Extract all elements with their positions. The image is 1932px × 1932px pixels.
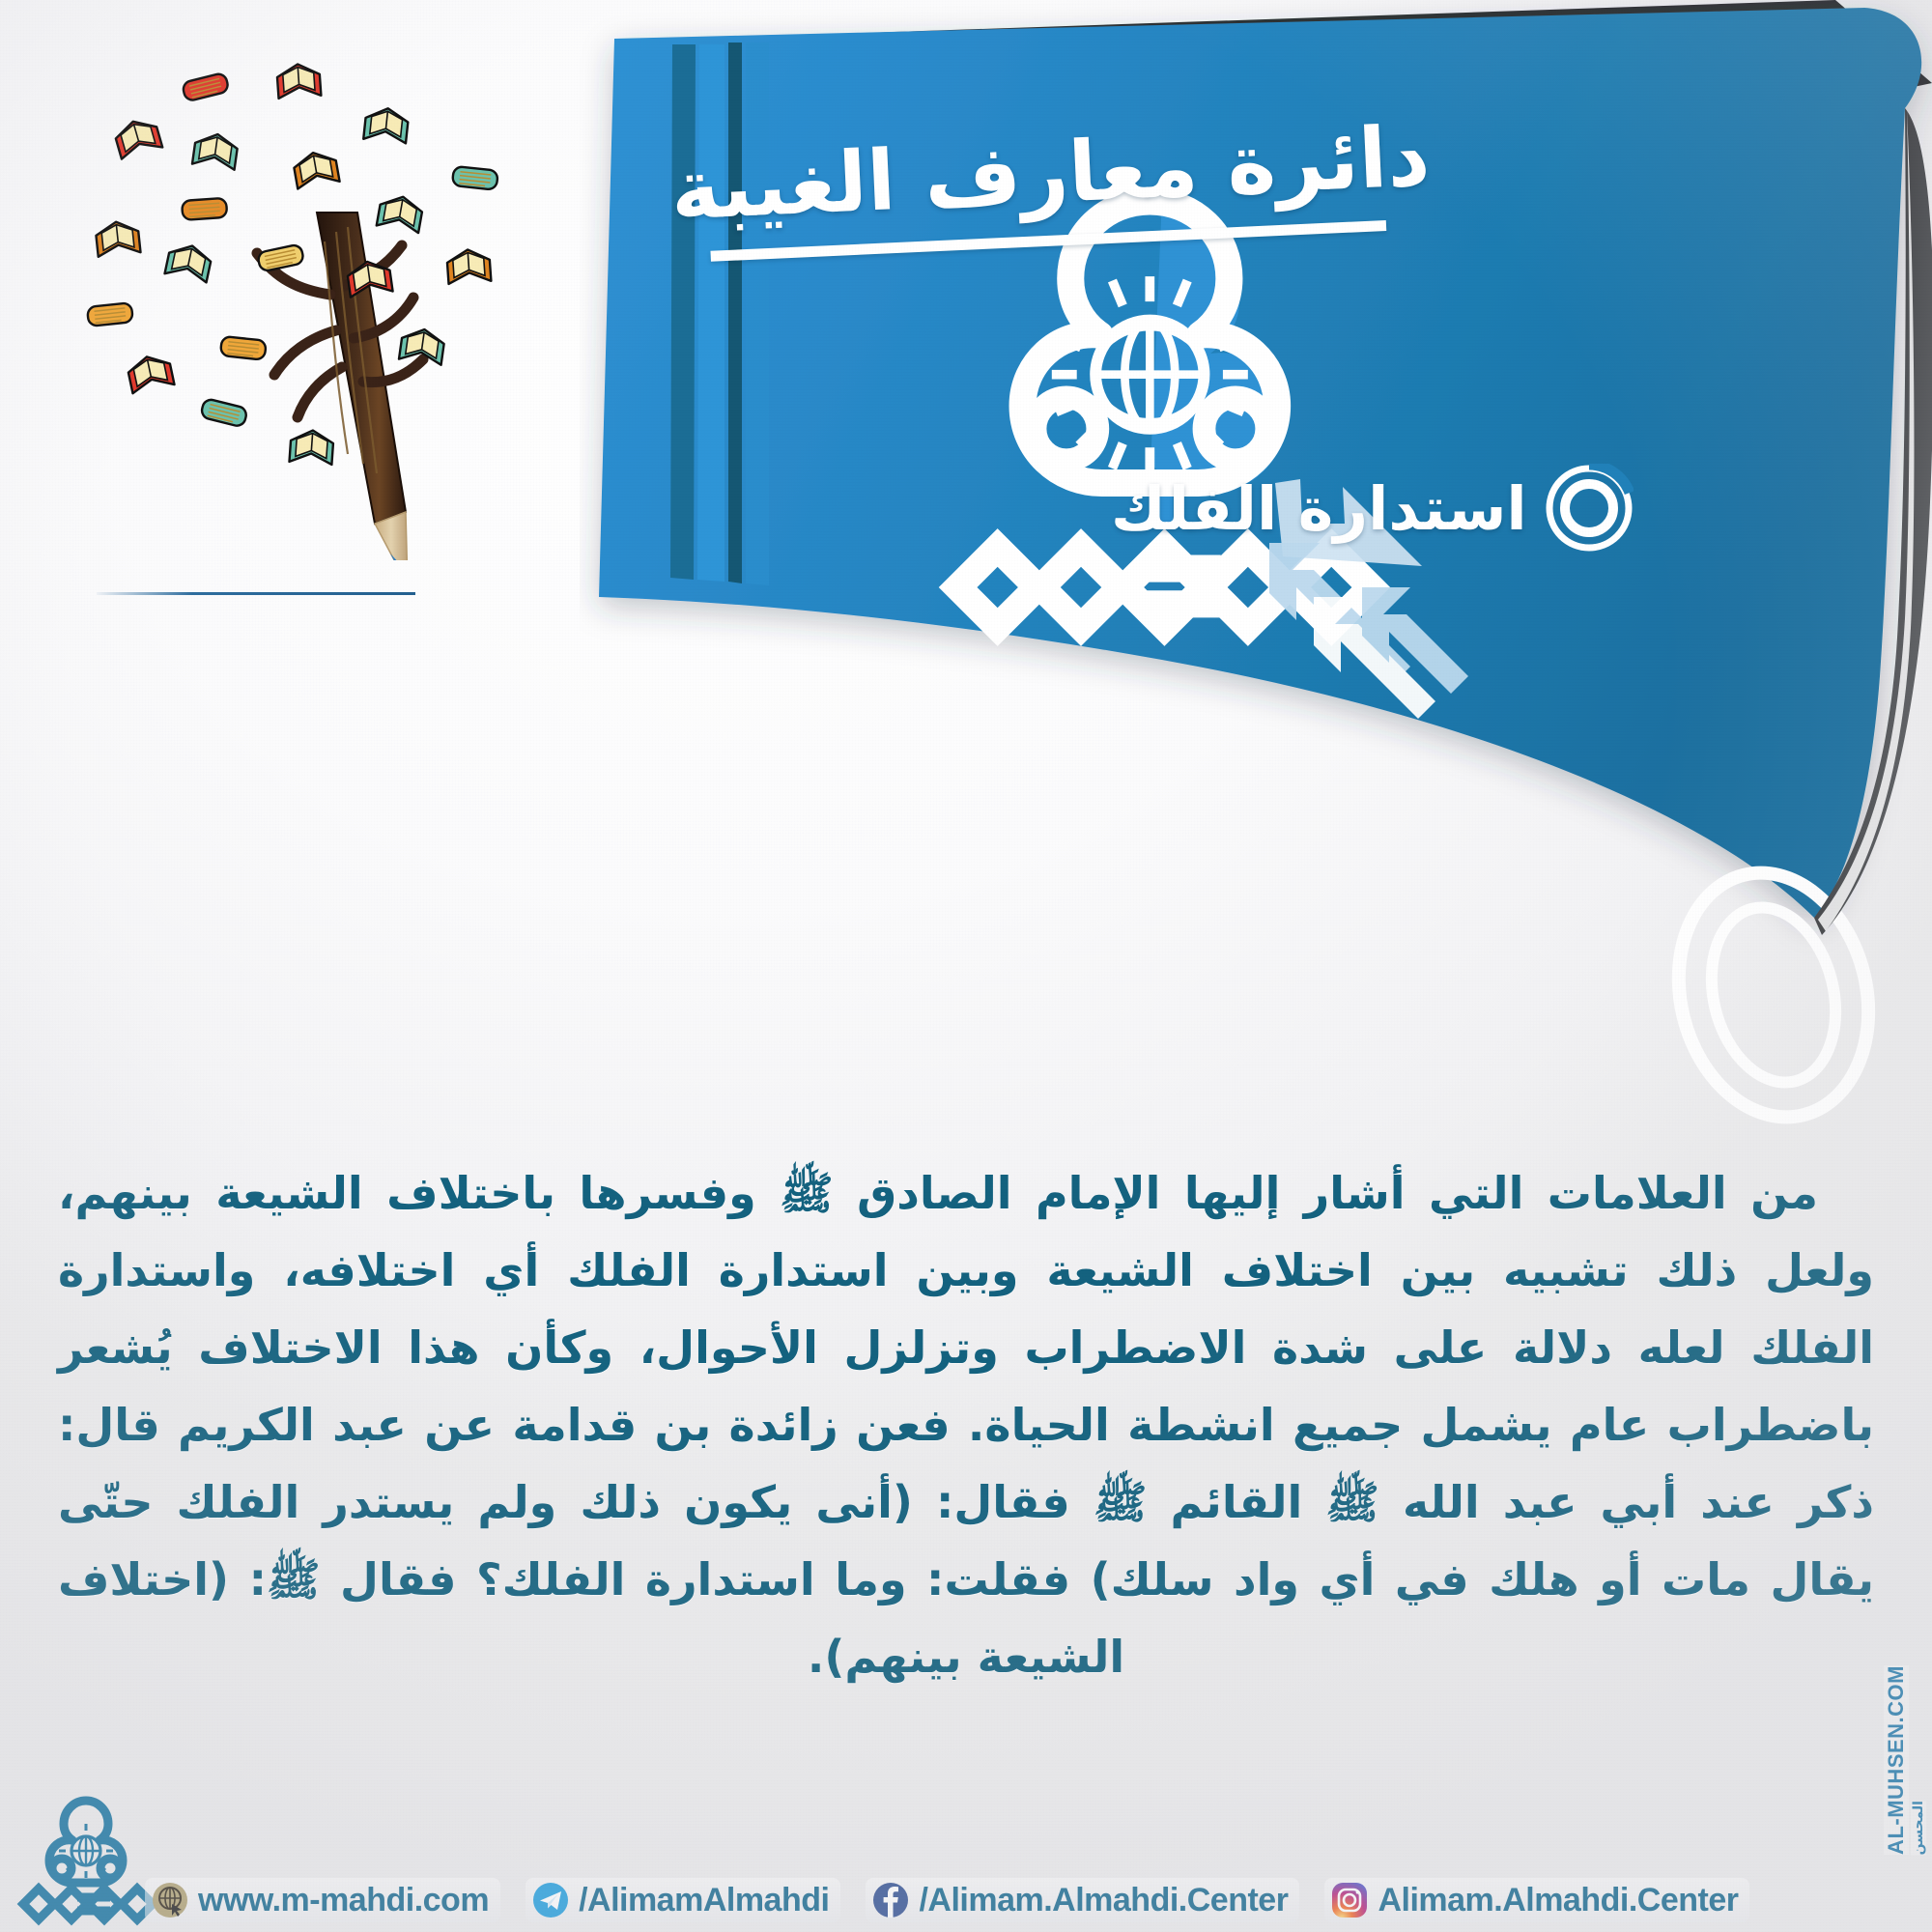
social-label: /Alimam.Almahdi.Center: [919, 1882, 1288, 1919]
book-tree-illustration: [68, 48, 531, 560]
pencil-draw-line: [97, 592, 415, 595]
social-link-telegram[interactable]: /AlimamAlmahdi: [526, 1878, 840, 1922]
almahdi-center-emblem-icon: [14, 1793, 158, 1928]
subtitle-text: استدارة الفلك: [1111, 473, 1527, 544]
facebook-icon: [871, 1881, 910, 1919]
telegram-icon: [531, 1881, 570, 1919]
social-link-facebook[interactable]: /Alimam.Almahdi.Center: [866, 1878, 1299, 1922]
subtitle-row: استدارة الفلك: [1111, 464, 1634, 553]
social-label: /AlimamAlmahdi: [579, 1882, 829, 1919]
social-links-list: www.m-mahdi.com /AlimamAlmahdi /Alimam.A…: [145, 1878, 1749, 1922]
article-body: من العلامات التي أشار إليها الإمام الصاد…: [58, 1154, 1874, 1695]
target-circle-icon: [1545, 464, 1634, 553]
watermark-site: AL-MUHSEN.COM: [1884, 1665, 1909, 1855]
body-line: من العلامات التي أشار إليها الإمام الصاد…: [215, 1167, 1818, 1219]
globe-icon: [151, 1881, 189, 1919]
social-link-instagram[interactable]: Alimam.Almahdi.Center: [1324, 1878, 1749, 1922]
book-foliage: [87, 63, 498, 465]
site-watermark: المحسن AL-MUHSEN.COM: [1884, 1665, 1926, 1855]
watermark-arabic: المحسن: [1911, 1801, 1926, 1855]
instagram-icon: [1330, 1881, 1369, 1919]
social-label: www.m-mahdi.com: [198, 1882, 489, 1919]
social-link-website[interactable]: www.m-mahdi.com: [145, 1878, 500, 1922]
social-label: Alimam.Almahdi.Center: [1378, 1882, 1738, 1919]
footer-bar: www.m-mahdi.com /AlimamAlmahdi /Alimam.A…: [0, 1826, 1932, 1932]
target-circle-icon: [1654, 853, 1893, 1138]
